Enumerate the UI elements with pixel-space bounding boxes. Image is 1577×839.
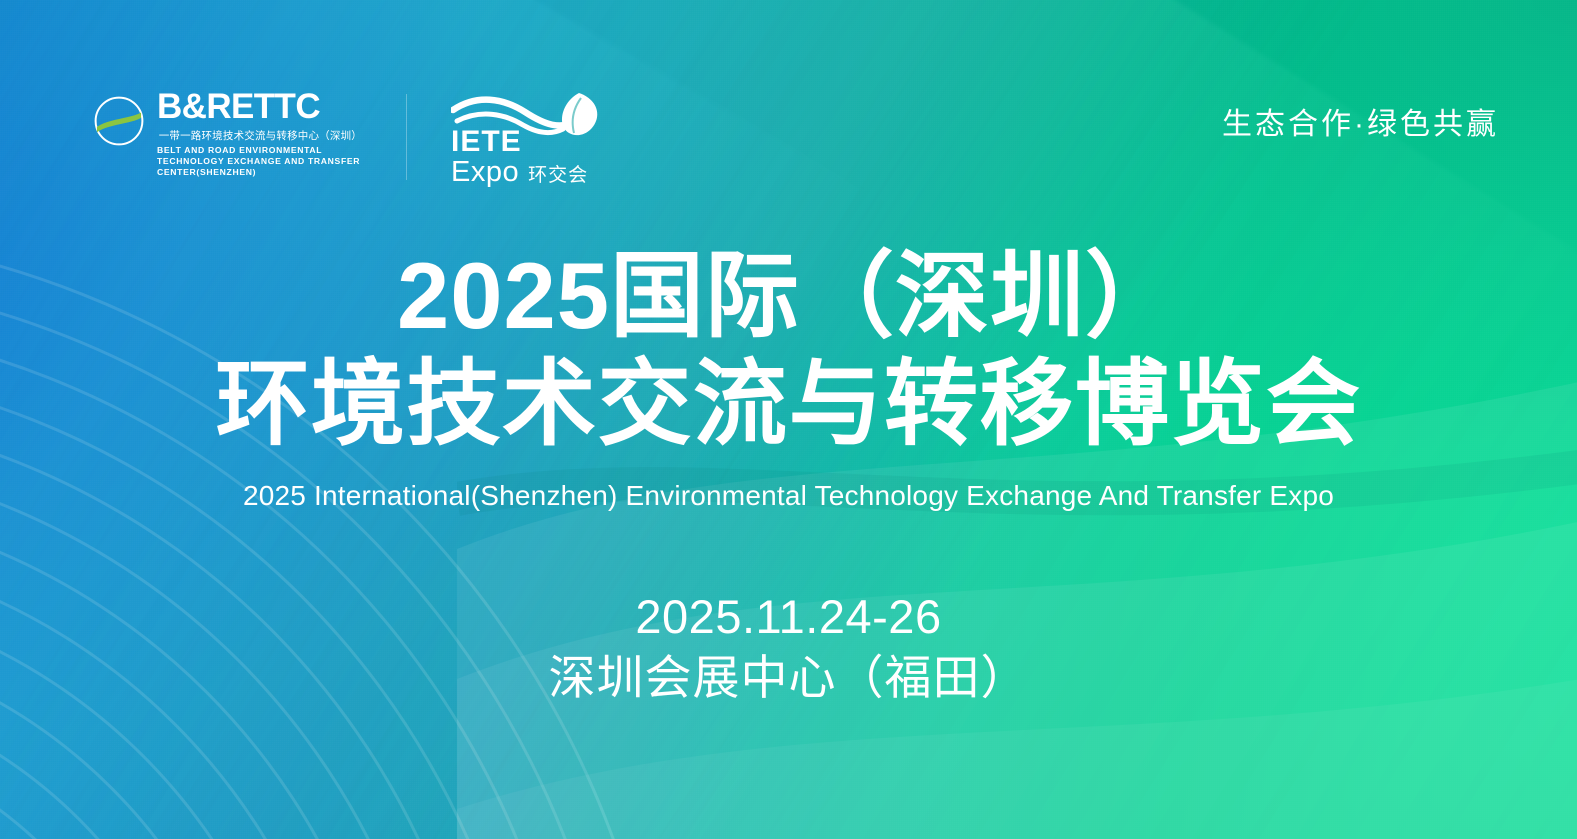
- iete-expo-word: Expo: [451, 158, 519, 187]
- event-banner: B&RETTC 一带一路环境技术交流与转移中心（深圳） BELT AND ROA…: [0, 0, 1577, 839]
- brettc-chinese-name: 一带一路环境技术交流与转移中心（深圳）: [157, 128, 362, 143]
- banner-tagline: 生态合作·绿色共赢: [1222, 88, 1499, 140]
- event-subtitle-english: 2025 International(Shenzhen) Environment…: [0, 479, 1577, 513]
- iete-expo-logo[interactable]: IETE Expo 环交会: [451, 88, 611, 187]
- globe-band-icon: [92, 94, 146, 148]
- brettc-english-name: BELT AND ROAD ENVIRONMENTAL TECHNOLOGY E…: [157, 145, 362, 179]
- banner-main: 2025国际（深圳） 环境技术交流与转移博览会 2025 Internation…: [0, 246, 1577, 706]
- brettc-wordmark: B&RETTC: [157, 90, 362, 124]
- event-date: 2025.11.24-26: [0, 589, 1577, 644]
- iete-abbr: IETE: [451, 128, 611, 156]
- event-title-line-2: 环境技术交流与转移博览会: [0, 354, 1577, 454]
- logo-group: B&RETTC 一带一路环境技术交流与转移中心（深圳） BELT AND ROA…: [92, 88, 611, 187]
- event-title-line-1: 2025国际（深圳）: [0, 246, 1577, 346]
- event-venue: 深圳会展中心（福田）: [0, 650, 1577, 705]
- logo-divider: [406, 94, 407, 180]
- event-info-block: 2025.11.24-26 深圳会展中心（福田）: [0, 589, 1577, 706]
- brettc-text-block: B&RETTC 一带一路环境技术交流与转移中心（深圳） BELT AND ROA…: [157, 90, 362, 179]
- iete-subtitle-row: Expo 环交会: [451, 158, 611, 187]
- banner-header: B&RETTC 一带一路环境技术交流与转移中心（深圳） BELT AND ROA…: [0, 0, 1577, 210]
- brettc-logo[interactable]: B&RETTC 一带一路环境技术交流与转移中心（深圳） BELT AND ROA…: [92, 88, 362, 179]
- iete-chinese-name: 环交会: [528, 166, 588, 185]
